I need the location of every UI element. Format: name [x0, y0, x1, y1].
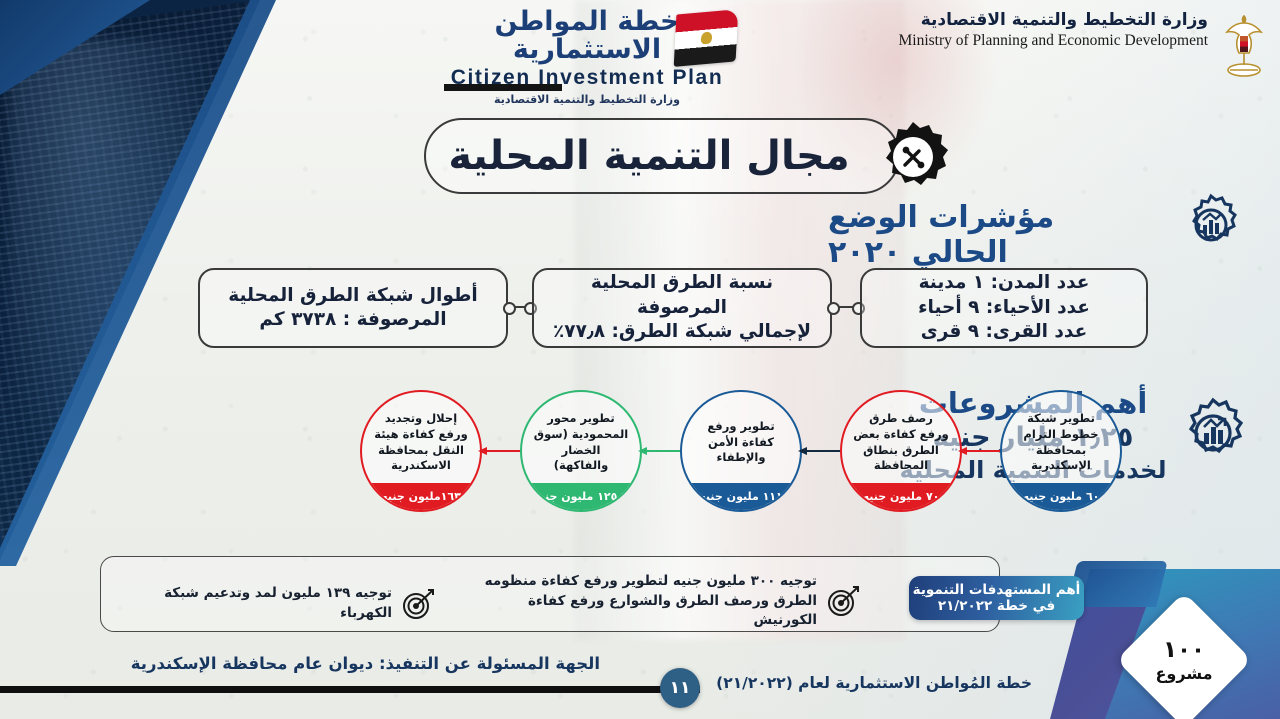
- project-circle-security-firefighting: تطوير ورفع كفاءة الأمن والإطفاء ١١١ مليو…: [680, 390, 802, 512]
- page-title-pill: مجال التنمية المحلية: [424, 118, 900, 194]
- indicator-text: نسبة الطرق المحلية المرصوفة لإجمالي شبكة…: [544, 271, 820, 344]
- indicator-line: أطوال شبكة الطرق المحلية: [228, 284, 478, 308]
- indicator-text: أطوال شبكة الطرق المحلية المرصوفة : ٣٧٣٨…: [228, 284, 478, 333]
- project-label: رصف طرق ورفع كفاءة بعض الطرق بنطاق المحا…: [842, 392, 960, 483]
- target-item-electricity: توجيه ١٣٩ مليون لمد وتدعيم شبكة الكهرباء: [130, 584, 435, 623]
- indicator-text: عدد المدن: ١ مدينة عدد الأحياء: ٩ أحياء …: [918, 271, 1090, 344]
- project-amount: ١٦٣مليون جنيه: [362, 483, 480, 510]
- plan-logo-rule: [444, 84, 562, 91]
- project-amount: ٦٠ مليون جنيه: [1002, 483, 1120, 510]
- target-arrow-icon: [401, 587, 435, 621]
- project-circle-road-paving: رصف طرق ورفع كفاءة بعض الطرق بنطاق المحا…: [840, 390, 962, 512]
- egypt-flag-icon: [674, 9, 739, 67]
- flow-arrow-icon: [798, 446, 840, 456]
- indicator-line: عدد القرى: ٩ قرى: [918, 320, 1090, 344]
- indicator-line: نسبة الطرق المحلية المرصوفة: [544, 271, 820, 320]
- project-label: إحلال وتجديد ورفع كفاءة هيئة النقل بمحاف…: [362, 392, 480, 483]
- indicator-box-paved-ratio: نسبة الطرق المحلية المرصوفة لإجمالي شبكة…: [532, 268, 832, 348]
- indicator-line: لإجمالي شبكة الطرق: ٧٧٫٨٪: [544, 320, 820, 344]
- target-text: توجيه ٣٠٠ مليون جنيه لتطوير ورفع كفاءة م…: [460, 572, 817, 631]
- gear-bar-chart-icon: [1176, 396, 1250, 470]
- slide-canvas: خطة المواطن الاستثمارية Citizen Investme…: [0, 0, 1280, 719]
- footer-rule: [0, 686, 700, 693]
- indicator-line: عدد الأحياء: ٩ أحياء: [918, 296, 1090, 320]
- page-number-badge: ١١: [660, 668, 700, 708]
- project-circle-tram-network: تطوير شبكة خطوط الترام بمحافظة الإسكندري…: [1000, 390, 1122, 512]
- page-title: مجال التنمية المحلية: [424, 118, 944, 194]
- project-amount: ١٢٥٫٧ مليون جنيه: [522, 483, 640, 510]
- projects-counter: ١٠٠ مشروع: [1136, 612, 1232, 708]
- tools-gear-icon: [876, 120, 950, 194]
- indicator-line: المرصوفة : ٣٧٣٨ كم: [228, 308, 478, 332]
- egypt-eagle-emblem-icon: [1220, 10, 1268, 84]
- targets-badge: أهم المستهدفات التنموية في خطة ٢١/٢٠٢٢: [909, 576, 1084, 620]
- projects-counter-number: ١٠٠: [1163, 638, 1205, 663]
- project-label: تطوير شبكة خطوط الترام بمحافظة الإسكندري…: [1002, 392, 1120, 483]
- indicator-box-counts: عدد المدن: ١ مدينة عدد الأحياء: ٩ أحياء …: [860, 268, 1148, 348]
- flow-arrow-icon: [958, 446, 1000, 456]
- indicator-line: عدد المدن: ١ مدينة: [918, 271, 1090, 295]
- footer-plan-label: خطة المُواطن الاستثمارية لعام (٢١/٢٠٢٢): [712, 674, 1032, 692]
- project-label: تطوير ورفع كفاءة الأمن والإطفاء: [682, 392, 800, 483]
- indicator-box-roads-length: أطوال شبكة الطرق المحلية المرصوفة : ٣٧٣٨…: [198, 268, 508, 348]
- page-title-text: مجال التنمية المحلية: [448, 133, 875, 179]
- targets-badge-line1: أهم المستهدفات التنموية: [913, 582, 1081, 598]
- target-item-roads: توجيه ٣٠٠ مليون جنيه لتطوير ورفع كفاءة م…: [460, 572, 860, 631]
- footer-responsible-entity: الجهة المسئولة عن التنفيذ: ديوان عام محا…: [40, 654, 600, 673]
- ministry-block: وزارة التخطيط والتنمية الاقتصادية Minist…: [828, 10, 1208, 51]
- ministry-english: Ministry of Planning and Economic Develo…: [828, 32, 1208, 51]
- project-label: تطوير محور المحمودية (سوق الخضار والفاكه…: [522, 392, 640, 483]
- indicator-connector: [832, 306, 860, 308]
- targets-badge-line2: في خطة ٢١/٢٠٢٢: [938, 598, 1055, 614]
- indicator-connector: [508, 306, 532, 308]
- projects-counter-unit: مشروع: [1156, 665, 1213, 683]
- target-text: توجيه ١٣٩ مليون لمد وتدعيم شبكة الكهرباء: [130, 584, 392, 623]
- flow-arrow-icon: [638, 446, 680, 456]
- project-circle-mahmoudiya-axis: تطوير محور المحمودية (سوق الخضار والفاكه…: [520, 390, 642, 512]
- ministry-arabic: وزارة التخطيط والتنمية الاقتصادية: [828, 10, 1208, 30]
- gear-chart-icon: [1178, 192, 1244, 258]
- plan-logo-subtitle: وزارة التخطيط والتنمية الاقتصادية: [432, 93, 742, 106]
- flow-arrow-icon: [478, 446, 520, 456]
- project-amount: ١١١ مليون جنيه: [682, 483, 800, 510]
- target-arrow-icon: [826, 584, 860, 618]
- project-amount: ٧٠ مليون جنيه: [842, 483, 960, 510]
- project-circle-transport-authority: إحلال وتجديد ورفع كفاءة هيئة النقل بمحاف…: [360, 390, 482, 512]
- indicators-heading: مؤشرات الوضع الحالي ٢٠٢٠: [828, 200, 1158, 270]
